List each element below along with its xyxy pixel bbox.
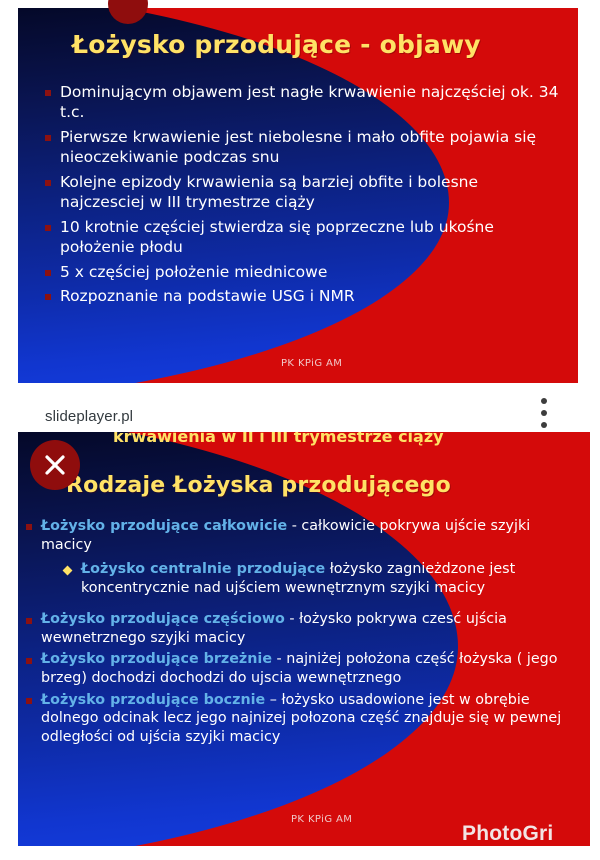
list-item-term: Łożysko centralnie przodujące <box>81 561 325 577</box>
list-item: 10 krotnie częściej stwierdza się poprze… <box>45 217 565 258</box>
list-item: Rozpoznanie na podstawie USG i NMR <box>45 286 565 306</box>
list-item-text: 5 x częściej położenie miednicowe <box>60 262 565 282</box>
slide-one-bullet-list: Dominującym objawem jest nagłe krwawieni… <box>45 82 565 311</box>
kebab-dot <box>541 422 547 428</box>
square-bullet-icon <box>26 618 32 624</box>
screenshot-root: Łożysko przodujące - objawy Dominującym … <box>0 0 600 860</box>
slide-one-credit: PK KPiG AM <box>281 358 342 369</box>
list-item-text: Łożysko przodujące bocznie – łożysko usa… <box>41 691 582 747</box>
square-bullet-icon <box>26 524 32 530</box>
list-item: Pierwsze krwawienie jest niebolesne i ma… <box>45 127 565 168</box>
kebab-dot <box>541 410 547 416</box>
list-item-term: Łożysko przodujące całkowicie <box>41 518 287 534</box>
slide-card-objawy[interactable]: Łożysko przodujące - objawy Dominującym … <box>18 8 578 383</box>
kebab-dot <box>541 398 547 404</box>
square-bullet-icon <box>45 135 51 141</box>
slide-card-rodzaje[interactable]: krwawienia w II i III trymestrze ciąży R… <box>18 432 590 846</box>
list-item-term: Łożysko przodujące brzeżnie <box>41 651 272 667</box>
slide-two-bullet-list: Łożysko przodujące całkowicie - całkowic… <box>26 517 582 749</box>
square-bullet-icon <box>45 180 51 186</box>
list-item-text: Kolejne epizody krwawienia są barziej ob… <box>60 172 565 213</box>
list-item: Łożysko przodujące częściowo - łożysko p… <box>26 610 582 647</box>
list-item-text: Rozpoznanie na podstawie USG i NMR <box>60 286 565 306</box>
square-bullet-icon <box>45 270 51 276</box>
list-item-text: Łożysko przodujące całkowicie - całkowic… <box>41 517 582 554</box>
list-item-term: Łożysko przodujące częściowo <box>41 611 285 627</box>
list-item: Dominującym objawem jest nagłe krwawieni… <box>45 82 565 123</box>
square-bullet-icon <box>45 225 51 231</box>
list-item-term: Łożysko przodujące bocznie <box>41 692 265 708</box>
list-item-text: Łożysko przodujące częściowo - łożysko p… <box>41 610 582 647</box>
slide-one-title: Łożysko przodujące - objawy <box>72 30 481 59</box>
list-item: Łożysko przodujące brzeżnie - najniżej p… <box>26 650 582 687</box>
list-item: 5 x częściej położenie miednicowe <box>45 262 565 282</box>
list-item: Kolejne epizody krwawienia są barziej ob… <box>45 172 565 213</box>
list-item: Łożysko centralnie przodujące łożysko za… <box>64 560 582 597</box>
diamond-bullet-icon <box>63 566 73 576</box>
slide-two-credit: PK KPiG AM <box>291 814 352 825</box>
square-bullet-icon <box>26 698 32 704</box>
photogrid-watermark: PhotoGri <box>462 822 553 846</box>
square-bullet-icon <box>45 294 51 300</box>
list-item: Łożysko przodujące całkowicie - całkowic… <box>26 517 582 554</box>
square-bullet-icon <box>45 90 51 96</box>
list-item-text: Dominującym objawem jest nagłe krwawieni… <box>60 82 565 123</box>
close-icon[interactable] <box>30 440 80 490</box>
list-item-text: Łożysko centralnie przodujące łożysko za… <box>81 560 582 597</box>
list-item-text: 10 krotnie częściej stwierdza się poprze… <box>60 217 565 258</box>
list-item: Łożysko przodujące bocznie – łożysko usa… <box>26 691 582 747</box>
source-site-label: slideplayer.pl <box>45 408 133 425</box>
square-bullet-icon <box>26 658 32 664</box>
list-item-text: Pierwsze krwawienie jest niebolesne i ma… <box>60 127 565 168</box>
slide-two-title: Rodzaje Łożyska przodującego <box>66 473 451 498</box>
slide-two-clipped-heading: krwawienia w II i III trymestrze ciąży <box>113 432 444 446</box>
list-item-text: Łożysko przodujące brzeżnie - najniżej p… <box>41 650 582 687</box>
more-vertical-icon[interactable] <box>536 398 552 426</box>
